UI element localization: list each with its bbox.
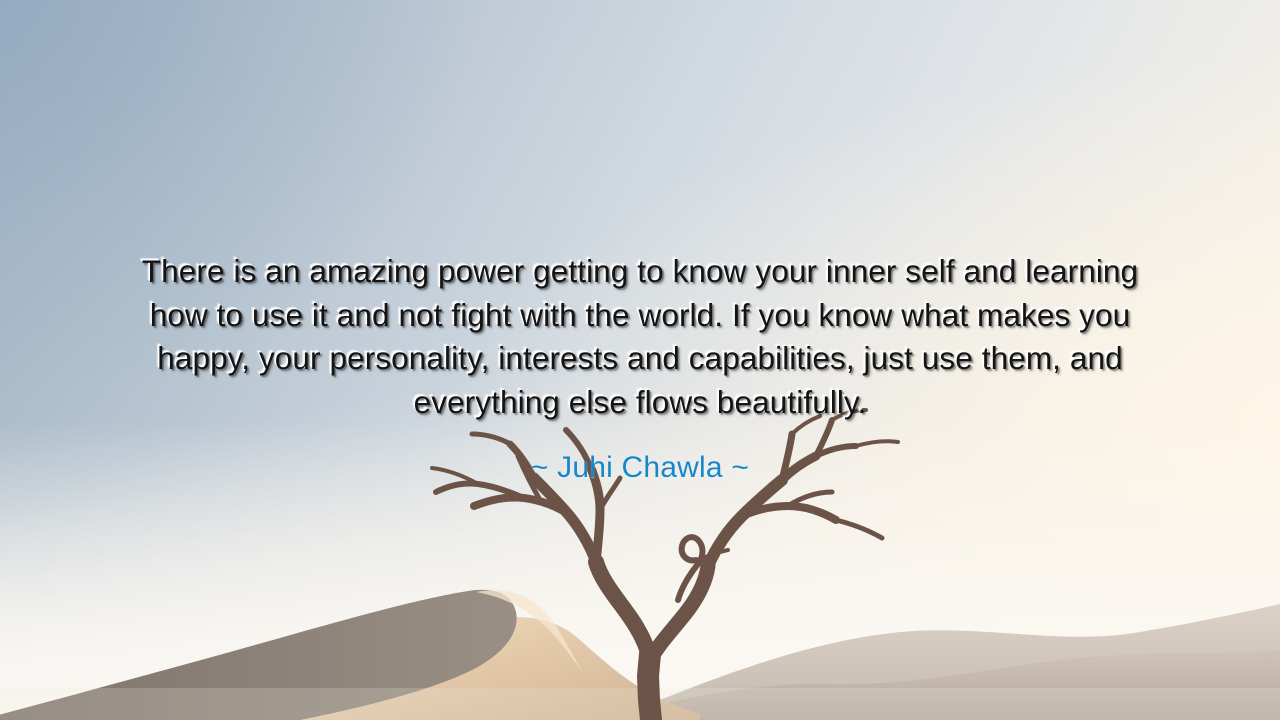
quote-text: There is an amazing power getting to kno… [110,250,1170,424]
quote-image-canvas: There is an amazing power getting to kno… [0,0,1280,720]
quote-overlay: There is an amazing power getting to kno… [0,0,1280,720]
quote-block: There is an amazing power getting to kno… [110,250,1170,488]
quote-author: ~ Juhi Chawla ~ [110,448,1170,488]
